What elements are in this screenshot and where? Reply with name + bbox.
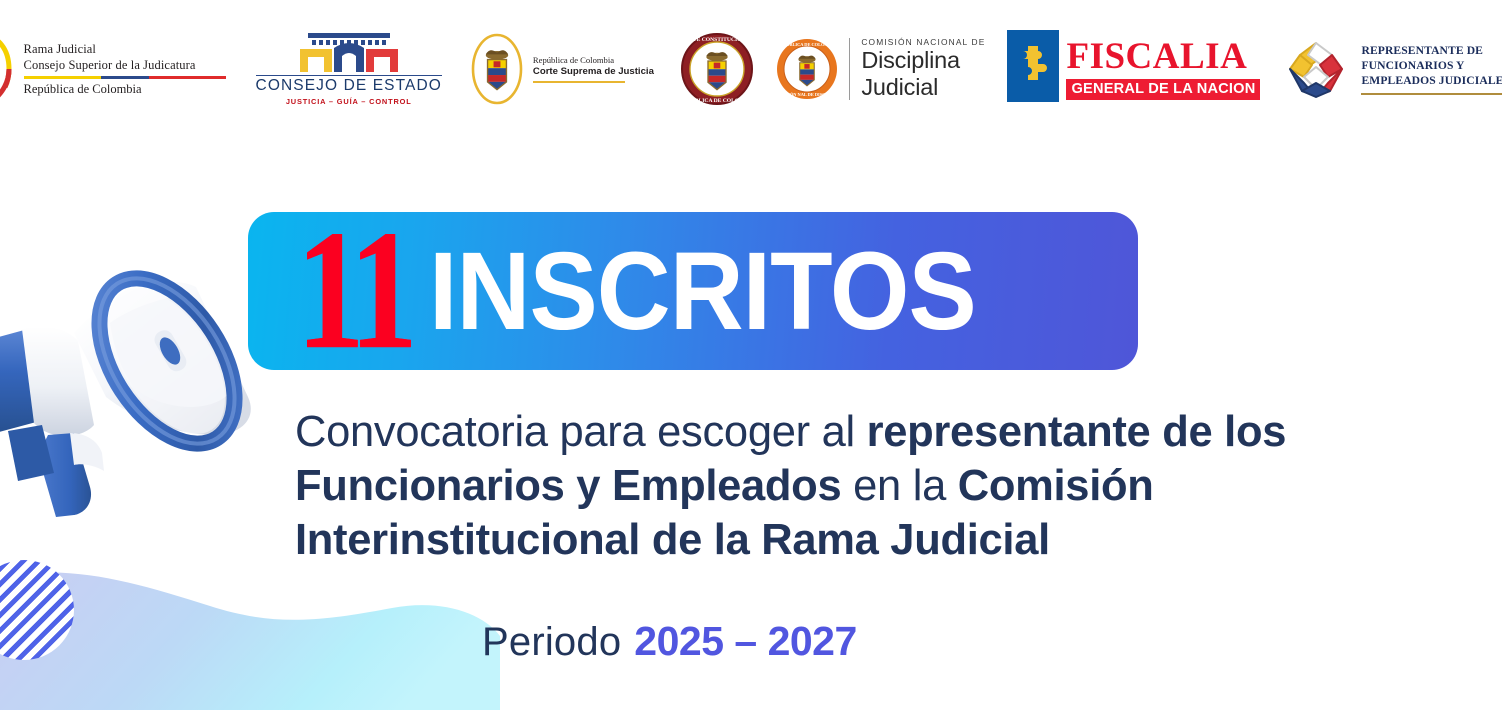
logo-representante-funcionarios: REPRESENTANTE DE FUNCIONARIOS Y EMPLEADO… [1280,30,1502,108]
institutional-logo-strip: Rama Judicial Consejo Superior de la Jud… [0,28,1502,110]
logo-corte-constitucional: CORTE CONSTITUCIONAL REPÚBLICA DE COLOMB… [680,30,754,108]
headline: Convocatoria para escoger al representan… [295,406,1455,568]
svg-text:REPÚBLICA DE COLOMBIA: REPÚBLICA DE COLOMBIA [778,42,838,47]
inscritos-banner: 11 INSCRITOS [248,212,1138,370]
headline-segment-1: Convocatoria para escoger al [295,408,867,456]
inscritos-count: 11 [296,224,410,358]
striped-circle-decoration [0,560,74,660]
logo-representante-line3: EMPLEADOS JUDICIALES [1361,73,1502,88]
logo-disciplina-line1: Disciplina [861,47,985,74]
logo-fiscalia: FISCALIA GENERAL DE LA NACION [1007,30,1260,108]
tricolor-divider [24,76,226,79]
logo-consejo-title: CONSEJO DE ESTADO [256,75,442,95]
svg-text:REPÚBLICA DE COLOMBIA: REPÚBLICA DE COLOMBIA [680,96,754,104]
logo-representante-line2: FUNCIONARIOS Y [1361,58,1502,73]
vertical-divider [849,38,850,100]
logo-corte-line1: República de Colombia [533,55,654,66]
logo-consejo-de-estado: CONSEJO DE ESTADO JUSTICIA – GUÍA – CONT… [256,30,442,108]
logo-rama-line3: República de Colombia [24,82,226,97]
logo-rama-judicial: Rama Judicial Consejo Superior de la Jud… [0,30,226,108]
gold-divider [1361,93,1502,95]
logo-representante-line1: REPRESENTANTE DE [1361,43,1502,58]
period-line: Periodo2025 – 2027 [482,618,857,665]
corte-constitucional-seal-icon: CORTE CONSTITUCIONAL REPÚBLICA DE COLOMB… [680,32,754,106]
megaphone-icon [0,183,282,535]
logo-corte-suprema: República de Colombia Corte Suprema de J… [470,30,654,108]
puzzle-piece-icon [1007,30,1059,102]
logo-disciplina-eyebrow: COMISIÓN NACIONAL DE [861,37,985,47]
svg-text:CORTE CONSTITUCIONAL: CORTE CONSTITUCIONAL [681,37,754,43]
logo-rama-line1: Rama Judicial [24,41,226,57]
headline-segment-3: en la [841,462,957,510]
logo-consejo-subtitle: JUSTICIA – GUÍA – CONTROL [286,97,412,106]
gold-divider [533,81,625,83]
logo-fiscalia-title: FISCALIA [1066,38,1260,75]
logo-fiscalia-subtitle: GENERAL DE LA NACION [1066,79,1260,100]
logo-disciplina-line2: Judicial [861,74,985,101]
colombia-coat-of-arms-icon [0,31,13,107]
period-label: Periodo [482,620,621,664]
wave-decoration [0,550,520,710]
svg-text:COMISIÓN NAL DE DISCIPLINA: COMISIÓN NAL DE DISCIPLINA [776,92,838,97]
logo-corte-line2: Corte Suprema de Justicia [533,66,654,78]
inscritos-label: INSCRITOS [429,242,976,341]
poster-root: { "header": { "logos": [ { "name": "rama… [0,0,1502,710]
logo-disciplina-judicial: REPÚBLICA DE COLOMBIA COMISIÓN NAL DE DI… [776,30,986,108]
four-hands-icon [1280,33,1352,105]
disciplina-judicial-seal-icon: REPÚBLICA DE COLOMBIA COMISIÓN NAL DE DI… [776,38,838,100]
period-range: 2025 – 2027 [634,618,857,664]
colombia-coat-of-arms-icon [470,32,524,106]
logo-rama-line2: Consejo Superior de la Judicatura [24,57,226,73]
classical-building-icon [282,32,416,74]
